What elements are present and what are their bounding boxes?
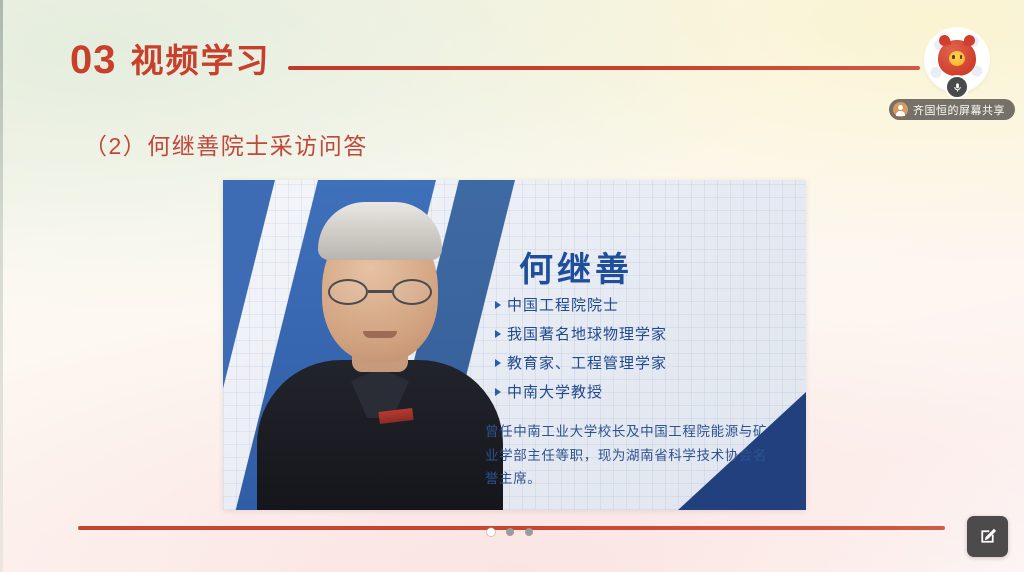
- credential-label: 教育家、工程管理学家: [507, 352, 667, 373]
- portrait-hair: [318, 202, 442, 260]
- biography-paragraph: 曾任中南工业大学校长及中国工程院能源与矿业学部主任等职，现为湖南省科学技术协会名…: [485, 420, 770, 491]
- credential-label: 中南大学教授: [507, 381, 603, 402]
- pen-annotate-icon: [977, 526, 998, 547]
- pagination-dot-2[interactable]: [506, 528, 514, 536]
- portrait-photo: [249, 210, 511, 510]
- video-player[interactable]: 何继善 中国工程院院士 我国著名地球物理学家 教育家、工程管理学家 中南大学教授…: [223, 180, 806, 510]
- bullet-triangle-icon: [495, 330, 501, 338]
- person-icon: [893, 102, 908, 117]
- portrait-glasses-icon: [328, 279, 432, 305]
- pig-avatar-icon: [938, 40, 976, 76]
- portrait-suit: [257, 360, 503, 510]
- bullet-triangle-icon: [495, 359, 501, 367]
- portrait-mouth: [363, 331, 397, 338]
- credentials-list: 中国工程院院士 我国著名地球物理学家 教育家、工程管理学家 中南大学教授: [495, 294, 667, 410]
- list-item: 中国工程院院士: [495, 294, 667, 315]
- credential-label: 我国著名地球物理学家: [507, 323, 667, 344]
- participant-avatar[interactable]: [926, 29, 988, 91]
- annotate-button[interactable]: [967, 516, 1008, 557]
- bullet-triangle-icon: [495, 301, 501, 309]
- person-name: 何继善: [519, 242, 633, 291]
- screen-share-canvas: 03 视频学习 （2）何继善院士采访问答 齐国恒的屏幕共享: [0, 0, 1024, 572]
- slide-subtitle: （2）何继善院士采访问答: [84, 127, 368, 161]
- credential-label: 中国工程院院士: [507, 294, 619, 315]
- list-item: 中南大学教授: [495, 381, 667, 402]
- bullet-triangle-icon: [495, 388, 501, 396]
- microphone-icon[interactable]: [945, 75, 969, 99]
- screen-share-badge: 齐国恒的屏幕共享: [889, 99, 1015, 120]
- section-title: 视频学习: [131, 44, 271, 77]
- header-divider-line: [288, 66, 920, 70]
- section-number: 03: [70, 40, 117, 80]
- screen-share-label: 齐国恒的屏幕共享: [913, 102, 1005, 118]
- pagination-dot-3[interactable]: [525, 528, 533, 536]
- list-item: 教育家、工程管理学家: [495, 352, 667, 373]
- pagination-dot-1[interactable]: [487, 528, 495, 536]
- slide-header: 03 视频学习: [70, 40, 271, 80]
- avatar-face-icon: [949, 51, 965, 66]
- list-item: 我国著名地球物理学家: [495, 323, 667, 344]
- pagination-dots[interactable]: [487, 528, 533, 536]
